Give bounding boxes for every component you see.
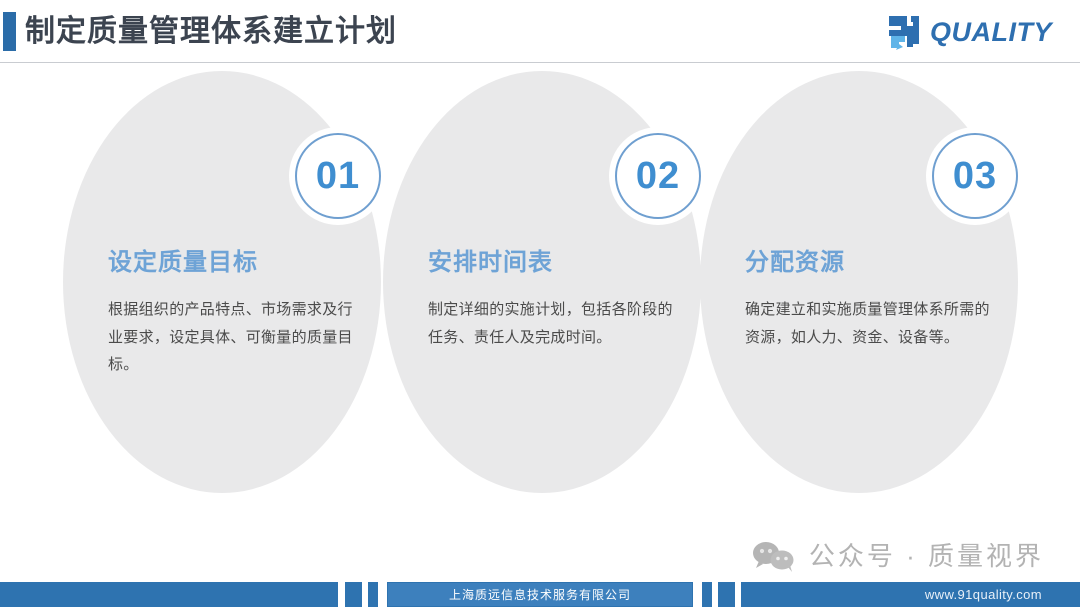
footer-bar-segment	[345, 582, 362, 607]
wechat-watermark: 公众号 · 质量视界	[751, 540, 1044, 572]
company-name-band: 上海质远信息技术服务有限公司	[387, 582, 693, 607]
card-step-2: 02 安排时间表 制定详细的实施计划，包括各阶段的任务、责任人及完成时间。	[383, 63, 701, 533]
card-step-3: 03 分配资源 确定建立和实施质量管理体系所需的资源，如人力、资金、设备等。	[700, 63, 1018, 533]
cards-row: 01 设定质量目标 根据组织的产品特点、市场需求及行业要求，设定具体、可衡量的质…	[0, 63, 1080, 533]
card-text: 根据组织的产品特点、市场需求及行业要求，设定具体、可衡量的质量目标。	[108, 296, 360, 379]
wechat-label: 公众号 · 质量视界	[809, 543, 1044, 569]
step-badge: 02	[615, 133, 701, 219]
card-heading: 设定质量目标	[108, 249, 360, 278]
card-heading: 分配资源	[745, 249, 997, 278]
card-step-1: 01 设定质量目标 根据组织的产品特点、市场需求及行业要求，设定具体、可衡量的质…	[63, 63, 381, 533]
card-text: 确定建立和实施质量管理体系所需的资源，如人力、资金、设备等。	[745, 296, 997, 352]
card-text: 制定详细的实施计划，包括各阶段的任务、责任人及完成时间。	[428, 296, 680, 352]
step-number: 02	[636, 157, 680, 195]
card-body: 设定质量目标 根据组织的产品特点、市场需求及行业要求，设定具体、可衡量的质量目标…	[108, 249, 360, 379]
logo-wordmark: QUALITY	[930, 19, 1052, 46]
title-accent-bar	[3, 12, 16, 51]
footer-bar-segment	[0, 582, 338, 607]
website-url: www.91quality.com	[925, 582, 1042, 607]
card-heading: 安排时间表	[428, 249, 680, 278]
footer-bar-segment	[702, 582, 712, 607]
logo-91-mark-icon	[885, 14, 923, 50]
slide-footer: 上海质远信息技术服务有限公司 www.91quality.com	[0, 582, 1080, 607]
step-number: 03	[953, 157, 997, 195]
step-number: 01	[316, 157, 360, 195]
step-badge: 01	[295, 133, 381, 219]
page-title: 制定质量管理体系建立计划	[25, 12, 397, 51]
step-badge: 03	[932, 133, 1018, 219]
card-body: 分配资源 确定建立和实施质量管理体系所需的资源，如人力、资金、设备等。	[745, 249, 997, 351]
slide: 制定质量管理体系建立计划 QUALITY 01	[0, 0, 1080, 607]
footer-bar-segment	[368, 582, 378, 607]
company-name: 上海质远信息技术服务有限公司	[449, 589, 631, 601]
card-body: 安排时间表 制定详细的实施计划，包括各阶段的任务、责任人及完成时间。	[428, 249, 680, 351]
footer-bar-segment	[718, 582, 735, 607]
slide-header: 制定质量管理体系建立计划 QUALITY	[0, 0, 1080, 63]
brand-logo: QUALITY	[885, 12, 1052, 52]
wechat-icon	[751, 540, 797, 572]
